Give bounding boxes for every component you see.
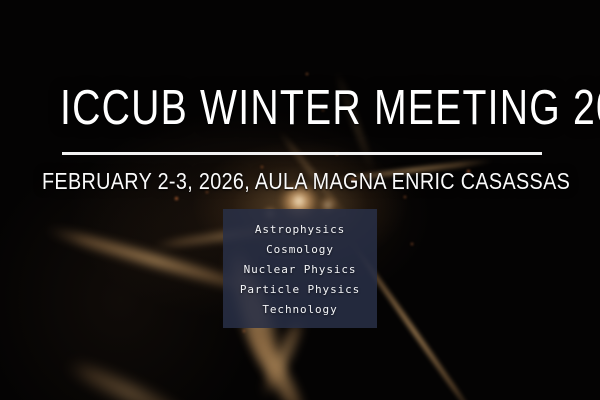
divider	[62, 152, 542, 155]
list-item: Cosmology	[266, 240, 334, 260]
poster-content: ICCUB WINTER MEETING 2026 FEBRUARY 2-3, …	[0, 0, 600, 400]
list-item: Technology	[262, 300, 337, 320]
list-item: Astrophysics	[255, 220, 345, 240]
poster-subtitle: FEBRUARY 2-3, 2026, AULA MAGNA ENRIC CAS…	[42, 167, 558, 195]
page-title: ICCUB WINTER MEETING 2026	[60, 82, 540, 134]
topics-panel: Astrophysics Cosmology Nuclear Physics P…	[223, 209, 377, 328]
list-item: Nuclear Physics	[244, 260, 357, 280]
list-item: Particle Physics	[240, 280, 360, 300]
conference-poster: ICCUB WINTER MEETING 2026 FEBRUARY 2-3, …	[0, 0, 600, 400]
